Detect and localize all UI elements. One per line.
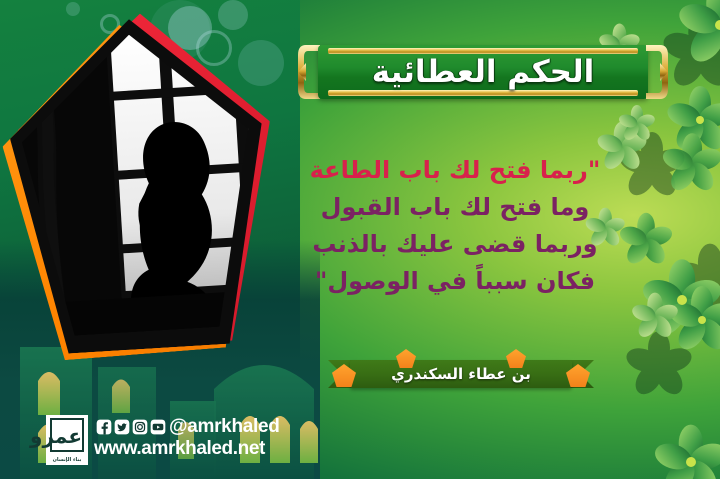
twitter-icon[interactable] xyxy=(114,419,130,435)
attribution-ribbon: بن عطاء السكندري xyxy=(322,354,600,394)
amr-khaled-logo: عمرو بناء الإنسان xyxy=(46,415,88,465)
quote-line: وربما قضى عليك بالذنب xyxy=(288,226,622,263)
title-banner: الحكم العطائية xyxy=(296,45,670,99)
attribution-text: بن عطاء السكندري xyxy=(322,363,600,385)
quote-line: وما فتح لك باب القبول xyxy=(288,189,622,226)
logo-arabic-mark: عمرو xyxy=(52,422,82,450)
quote-line: "ربما فتح لك باب الطاعة xyxy=(288,152,622,189)
social-handle[interactable]: @amrkhaled xyxy=(169,417,280,436)
page-title: الحكم العطائية xyxy=(296,52,670,92)
poster-canvas: الحكم العطائية "ربما فتح لك باب الطاعة و… xyxy=(0,0,720,479)
website-url[interactable]: www.amrkhaled.net xyxy=(94,438,265,460)
quote-block: "ربما فتح لك باب الطاعة وما فتح لك باب ا… xyxy=(288,152,622,300)
instagram-icon[interactable] xyxy=(132,419,148,435)
logo-subtitle: بناء الإنسان xyxy=(46,457,88,463)
quote-line: فكان سبباً في الوصول" xyxy=(288,263,622,300)
youtube-icon[interactable] xyxy=(150,419,166,435)
facebook-icon[interactable] xyxy=(96,419,112,435)
logo-frame: عمرو xyxy=(50,418,84,452)
footer-branding: عمرو بناء الإنسان xyxy=(46,413,306,469)
social-links[interactable]: @amrkhaled xyxy=(96,417,280,436)
prayer-photo-frame xyxy=(2,11,274,356)
